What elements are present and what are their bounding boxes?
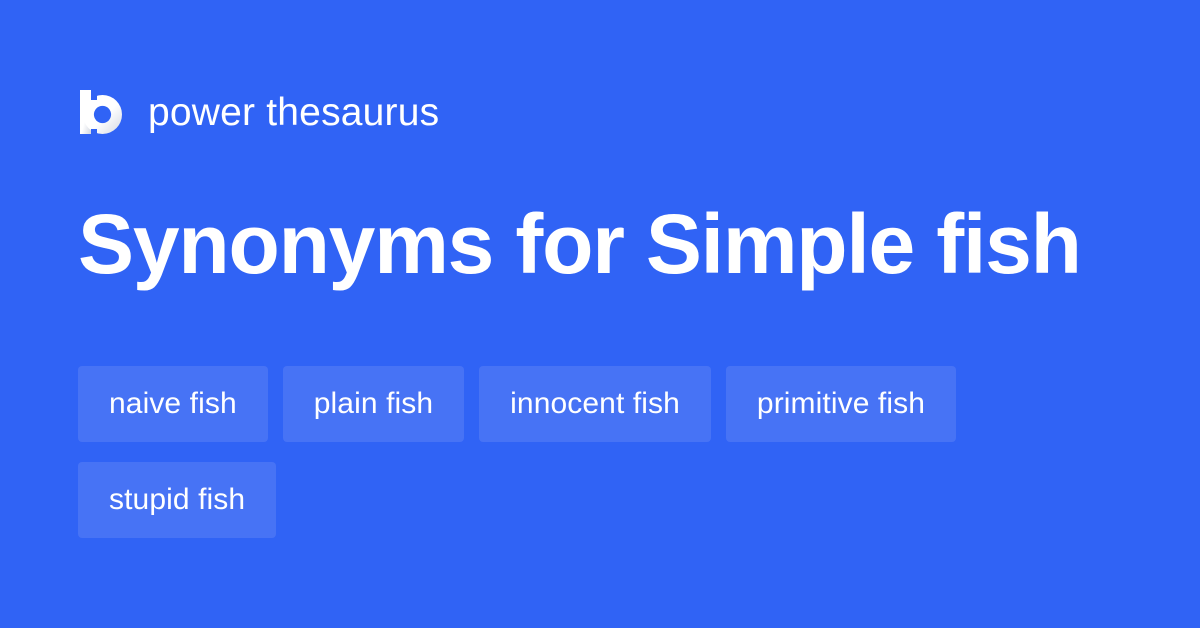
synonym-chip[interactable]: stupid fish bbox=[78, 462, 276, 538]
synonym-chip[interactable]: plain fish bbox=[283, 366, 464, 442]
synonym-chip-list: naive fish plain fish innocent fish prim… bbox=[78, 366, 1138, 538]
synonym-chip[interactable]: innocent fish bbox=[479, 366, 711, 442]
share-card: power thesaurus Synonyms for Simple fish… bbox=[0, 0, 1200, 628]
synonym-chip[interactable]: naive fish bbox=[78, 366, 268, 442]
power-thesaurus-b-logo-icon bbox=[78, 89, 124, 135]
synonym-chip[interactable]: primitive fish bbox=[726, 366, 956, 442]
brand-lockup[interactable]: power thesaurus bbox=[78, 84, 439, 140]
page-title: Synonyms for Simple fish bbox=[78, 194, 1081, 294]
brand-name: power thesaurus bbox=[148, 93, 439, 132]
